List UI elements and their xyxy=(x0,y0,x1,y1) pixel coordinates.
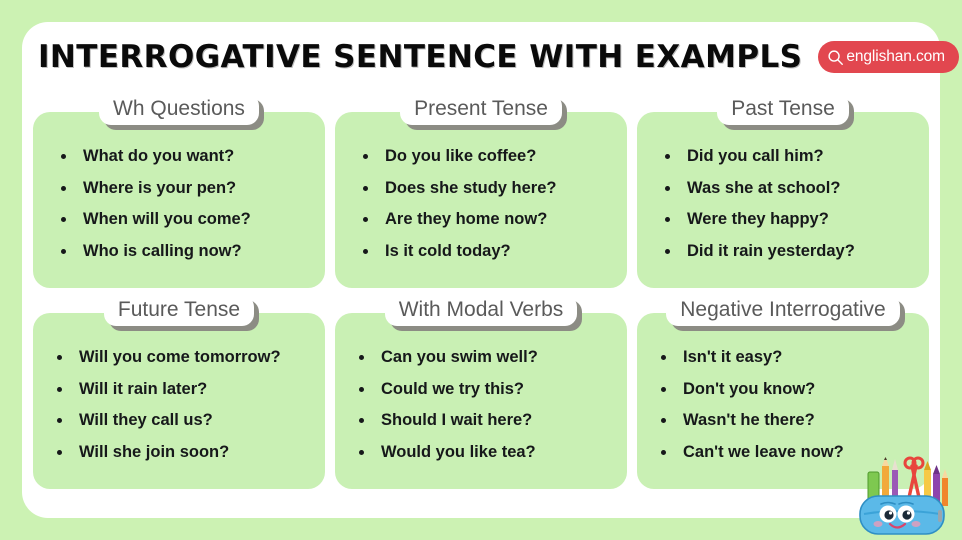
list-item: Don't you know? xyxy=(659,381,919,398)
main-panel: INTERROGATIVE SENTENCE WITH EXAMPLS engl… xyxy=(22,22,940,518)
list-item: Can't we leave now? xyxy=(659,444,919,461)
list-item: Will she join soon? xyxy=(55,444,315,461)
card-header-wrap: With Modal Verbs xyxy=(335,295,627,326)
page-title: INTERROGATIVE SENTENCE WITH EXAMPLS xyxy=(38,39,802,75)
list-item: Were they happy? xyxy=(663,211,919,228)
list-item: Wasn't he there? xyxy=(659,412,919,429)
card-header-wrap: Future Tense xyxy=(33,295,325,326)
card-title: Negative Interrogative xyxy=(666,295,899,326)
list-item: Should I wait here? xyxy=(357,412,617,429)
card-title: Present Tense xyxy=(400,94,562,125)
card-item-list: Will you come tomorrow? Will it rain lat… xyxy=(33,343,325,460)
card-title: With Modal Verbs xyxy=(385,295,578,326)
card-wh-questions: Wh Questions What do you want? Where is … xyxy=(33,112,325,288)
list-item: Was she at school? xyxy=(663,180,919,197)
card-item-list: What do you want? Where is your pen? Whe… xyxy=(33,142,325,259)
card-future-tense: Future Tense Will you come tomorrow? Wil… xyxy=(33,313,325,489)
header: INTERROGATIVE SENTENCE WITH EXAMPLS engl… xyxy=(22,22,940,92)
list-item: Will they call us? xyxy=(55,412,315,429)
card-negative-interrogative: Negative Interrogative Isn't it easy? Do… xyxy=(637,313,929,489)
list-item: Will you come tomorrow? xyxy=(55,349,315,366)
card-item-list: Do you like coffee? Does she study here?… xyxy=(335,142,627,259)
brand-badge[interactable]: englishan.com xyxy=(818,41,959,73)
list-item: Isn't it easy? xyxy=(659,349,919,366)
list-item: Did it rain yesterday? xyxy=(663,243,919,260)
list-item: Where is your pen? xyxy=(59,180,315,197)
card-item-list: Isn't it easy? Don't you know? Wasn't he… xyxy=(637,343,929,460)
card-header-wrap: Present Tense xyxy=(335,94,627,125)
list-item: Do you like coffee? xyxy=(361,148,617,165)
list-item: Who is calling now? xyxy=(59,243,315,260)
list-item: Will it rain later? xyxy=(55,381,315,398)
card-past-tense: Past Tense Did you call him? Was she at … xyxy=(637,112,929,288)
card-title: Wh Questions xyxy=(99,94,259,125)
card-title: Future Tense xyxy=(104,295,254,326)
card-grid: Wh Questions What do you want? Where is … xyxy=(33,112,929,489)
card-header-wrap: Wh Questions xyxy=(33,94,325,125)
list-item: Did you call him? xyxy=(663,148,919,165)
list-item: Could we try this? xyxy=(357,381,617,398)
card-header-wrap: Past Tense xyxy=(637,94,929,125)
card-title: Past Tense xyxy=(717,94,849,125)
list-item: Would you like tea? xyxy=(357,444,617,461)
list-item: Does she study here? xyxy=(361,180,617,197)
search-icon xyxy=(827,49,844,66)
brand-label: englishan.com xyxy=(846,48,945,66)
list-item: Is it cold today? xyxy=(361,243,617,260)
card-header-wrap: Negative Interrogative xyxy=(637,295,929,326)
list-item: Can you swim well? xyxy=(357,349,617,366)
card-present-tense: Present Tense Do you like coffee? Does s… xyxy=(335,112,627,288)
card-item-list: Can you swim well? Could we try this? Sh… xyxy=(335,343,627,460)
card-item-list: Did you call him? Was she at school? Wer… xyxy=(637,142,929,259)
list-item: What do you want? xyxy=(59,148,315,165)
list-item: When will you come? xyxy=(59,211,315,228)
card-modal-verbs: With Modal Verbs Can you swim well? Coul… xyxy=(335,313,627,489)
list-item: Are they home now? xyxy=(361,211,617,228)
